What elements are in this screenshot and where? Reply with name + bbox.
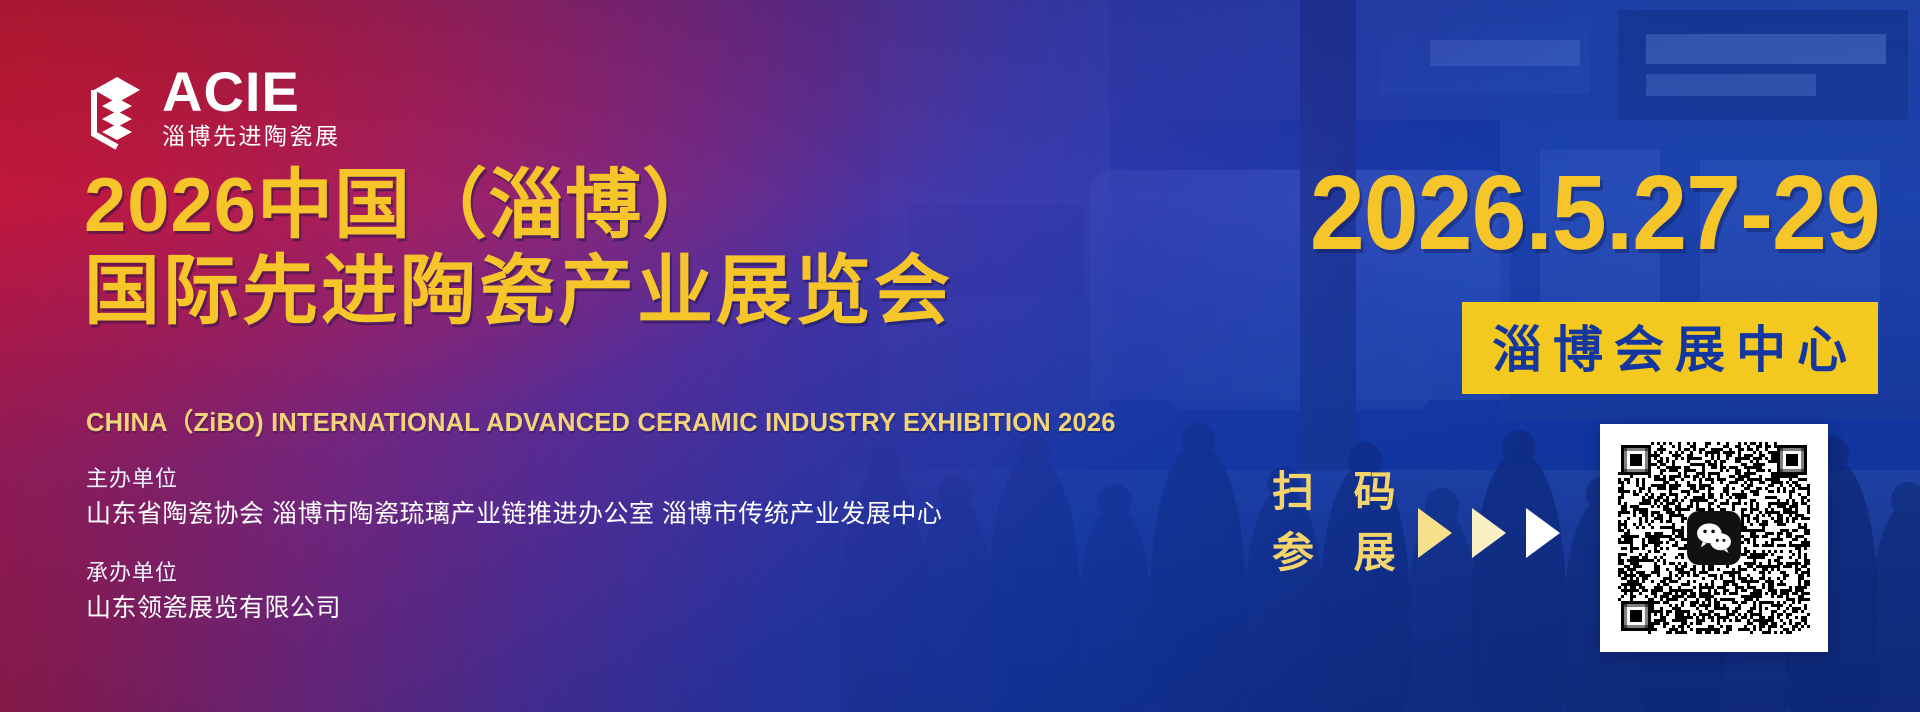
scan-cta-text: 扫 码 参 展	[1272, 462, 1410, 584]
exhibition-banner: ACIE 淄博先进陶瓷展 2026中国（淄博） 国际先进陶瓷产业展览会 CHIN…	[0, 0, 1920, 712]
wechat-icon	[1687, 511, 1741, 565]
logo-subtitle: 淄博先进陶瓷展	[162, 122, 341, 151]
hexagon-layers-icon	[86, 74, 148, 150]
acie-logo: ACIE 淄博先进陶瓷展	[86, 66, 341, 150]
logo-wordmark: ACIE	[162, 66, 341, 118]
title-line-2: 国际先进陶瓷产业展览会	[84, 254, 953, 330]
organizer-section: 主办单位 山东省陶瓷协会 淄博市陶瓷琉璃产业链推进办公室 淄博市传统产业发展中心…	[86, 462, 942, 649]
event-venue: 淄博会展中心	[1462, 302, 1878, 394]
organizer-host: 主办单位 山东省陶瓷协会 淄博市陶瓷琉璃产业链推进办公室 淄博市传统产业发展中心	[86, 462, 942, 534]
organizer-host-value: 山东省陶瓷协会 淄博市陶瓷琉璃产业链推进办公室 淄博市传统产业发展中心	[86, 496, 942, 534]
organizer-undertaker-value: 山东领瓷展览有限公司	[86, 590, 942, 628]
triangle-right-icon	[1418, 508, 1452, 558]
wechat-qr-code[interactable]	[1600, 424, 1828, 652]
triangle-right-icon	[1526, 508, 1560, 558]
organizer-host-label: 主办单位	[86, 462, 942, 496]
event-date: 2026.5.27-29	[1310, 160, 1880, 266]
arrow-group	[1418, 508, 1560, 558]
scan-cta-line-1: 扫 码	[1272, 462, 1410, 523]
organizer-undertaker: 承办单位 山东领瓷展览有限公司	[86, 556, 942, 628]
title-line-1: 2026中国（淄博）	[84, 168, 719, 244]
triangle-right-icon	[1472, 508, 1506, 558]
title-english: CHINA（ZiBO) INTERNATIONAL ADVANCED CERAM…	[86, 402, 1116, 439]
scan-cta-line-2: 参 展	[1272, 523, 1410, 584]
organizer-undertaker-label: 承办单位	[86, 556, 942, 590]
